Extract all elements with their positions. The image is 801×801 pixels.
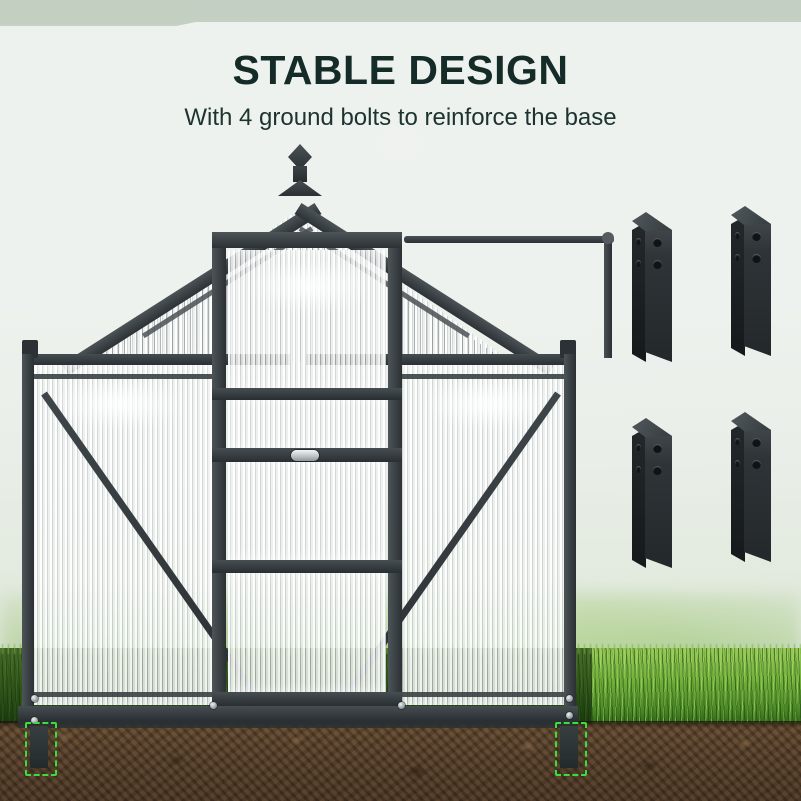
door-post-left [212, 232, 226, 708]
anchor-face-wide [744, 412, 771, 562]
anchor-hole [735, 460, 740, 467]
door-panel-bottom [228, 572, 386, 692]
anchor-hole [636, 466, 641, 473]
door-panel-top [228, 250, 386, 390]
base-screw [566, 712, 573, 719]
anchor-hole [653, 238, 662, 247]
soil-cross-section [0, 723, 801, 801]
anchor-hole [735, 438, 740, 445]
door-threshold [212, 692, 402, 706]
anchor-hole [752, 460, 761, 469]
page-title: STABLE DESIGN [0, 47, 801, 94]
side-rail-left-lower [30, 692, 212, 697]
door-header [212, 232, 402, 248]
anchor-bottom-left [632, 418, 672, 568]
side-rail-right-lower [390, 692, 572, 697]
door-rail-upper [212, 388, 402, 400]
door-rail-lower [212, 560, 402, 573]
door-post-right [388, 232, 402, 708]
anchor-hole [636, 260, 641, 267]
roof-ridge-cap [278, 180, 322, 196]
greenhouse-product [0, 140, 620, 720]
product-feature-image: STABLE DESIGN With 4 ground bolts to rei… [0, 0, 801, 801]
anchor-hole [735, 254, 740, 261]
anchor-hole [752, 232, 761, 241]
anchor-face-wide [744, 206, 771, 356]
base-rail-shadow [18, 720, 578, 728]
callout-box-right [555, 722, 587, 776]
page-subtitle: With 4 ground bolts to reinforce the bas… [0, 104, 801, 132]
anchor-hole [636, 444, 641, 451]
anchor-hole [752, 254, 761, 263]
base-screw [398, 702, 405, 709]
side-rail-left-upper [30, 374, 212, 379]
corner-post-right [564, 354, 576, 706]
anchor-top-right [731, 206, 771, 356]
base-screw [210, 702, 217, 709]
side-rail-right-upper [390, 374, 572, 379]
anchor-hole [653, 260, 662, 269]
anchor-hole [636, 238, 641, 245]
anchor-hole [653, 466, 662, 475]
anchor-top-left [632, 212, 672, 362]
anchor-hole [653, 444, 662, 453]
base-screw [566, 695, 573, 702]
door-latch-handle[interactable] [291, 450, 319, 461]
callout-box-left [25, 722, 57, 776]
anchor-bottom-right [731, 412, 771, 562]
door-panel-lower-mid [228, 460, 386, 560]
door-panel-upper-mid [228, 398, 386, 450]
roof-vent-support-strut [604, 236, 612, 358]
roof-vent-support-rail [404, 236, 614, 243]
corner-post-left [22, 354, 34, 706]
base-screw [31, 695, 38, 702]
roof-finial-neck [293, 166, 307, 182]
roof-vent-rail-end-cap [602, 232, 614, 244]
anchor-face-wide [645, 418, 672, 568]
anchor-face-wide [645, 212, 672, 362]
anchor-hole [752, 438, 761, 447]
anchor-hole [735, 232, 740, 239]
